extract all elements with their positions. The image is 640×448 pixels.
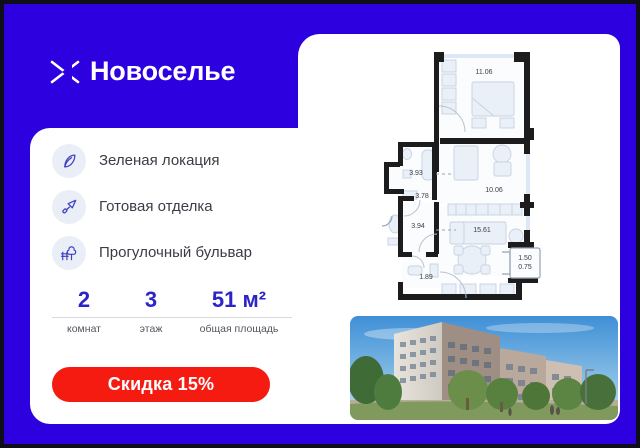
feature-label: Готовая отделка bbox=[99, 198, 213, 215]
stat-value-area: 51 м² bbox=[186, 287, 292, 313]
stat-value-floor: 3 bbox=[116, 287, 186, 313]
feature-label: Прогулочный бульвар bbox=[99, 244, 252, 261]
stat-area-number: 51 bbox=[212, 287, 236, 312]
area-label: 0.75 bbox=[518, 264, 532, 271]
discount-button[interactable]: Скидка 15% bbox=[52, 367, 270, 402]
stats-values-row: 2 3 51 м² bbox=[52, 287, 292, 317]
stat-area-unit: м² bbox=[243, 287, 267, 312]
promo-banner: Новоселье Зеленая локация Готовая отделк… bbox=[0, 0, 640, 448]
stats-labels-row: комнат этаж общая площадь bbox=[52, 318, 292, 336]
floorplan-drawing[interactable]: 11.06 10.06 3.78 3.78 3.93 3.94 1.89 15.… bbox=[376, 46, 586, 308]
area-label: 11.06 bbox=[476, 69, 493, 76]
feature-item-boulevard: Прогулочный бульвар bbox=[52, 236, 292, 270]
area-label: 1.50 bbox=[518, 255, 532, 262]
x-mark-icon bbox=[50, 59, 80, 85]
tree-bench-icon bbox=[52, 236, 86, 270]
feature-item-finishing: Готовая отделка bbox=[52, 190, 292, 224]
trowel-icon bbox=[52, 190, 86, 224]
area-label: 15.61 bbox=[473, 227, 491, 234]
area-label: 1.89 bbox=[419, 274, 433, 281]
area-label: 3.93 bbox=[409, 170, 423, 177]
stat-label-area: общая площадь bbox=[186, 323, 292, 336]
area-label-upper-corridor: 3.78 bbox=[415, 193, 429, 200]
leaf-icon bbox=[52, 144, 86, 178]
stats-block: 2 3 51 м² комнат этаж общая площадь bbox=[52, 287, 292, 336]
stat-label-floor: этаж bbox=[116, 323, 186, 336]
feature-label: Зеленая локация bbox=[99, 152, 220, 169]
brand-name: Новоселье bbox=[90, 56, 235, 87]
stat-value-rooms: 2 bbox=[52, 287, 116, 313]
brand-logo[interactable]: Новоселье bbox=[50, 56, 235, 87]
area-label: 3.94 bbox=[411, 223, 425, 230]
stat-label-rooms: комнат bbox=[52, 323, 116, 336]
feature-item-green-location: Зеленая локация bbox=[52, 144, 292, 178]
feature-list: Зеленая локация Готовая отделка bbox=[52, 144, 292, 282]
area-label: 10.06 bbox=[485, 187, 503, 194]
building-render-photo bbox=[350, 316, 618, 420]
